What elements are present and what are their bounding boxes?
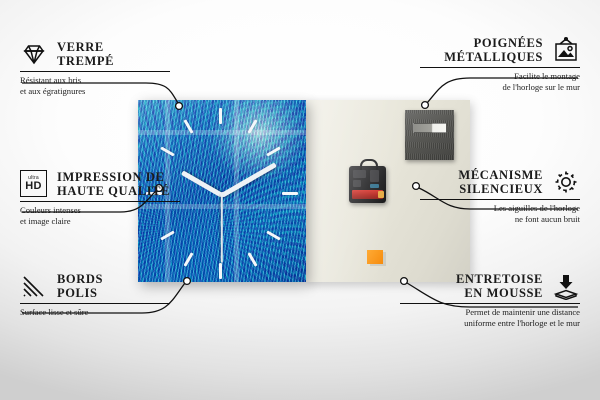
- hour-tick: [219, 263, 222, 279]
- callout-description: Surface lisse et sûre: [20, 307, 170, 318]
- callout-description: Couleurs intenses et image claire: [20, 205, 180, 226]
- callout-poignees-metalliques: POIGNÉES MÉTALLIQUES Facilite le montage…: [420, 36, 580, 92]
- callout-title: BORDS POLIS: [57, 272, 103, 300]
- callout-verre-trempe: VERRE TREMPÉ Résistant aux bris et aux é…: [20, 40, 170, 96]
- callout-header: ENTRETOISE EN MOUSSE: [400, 272, 580, 300]
- callout-title: VERRE TREMPÉ: [57, 40, 114, 68]
- callout-bords-polis: BORDS POLIS Surface lisse et sûre: [20, 272, 170, 318]
- diamond-icon: [20, 40, 48, 68]
- callout-rule: [20, 71, 170, 72]
- pattern-gridline: [138, 130, 306, 135]
- callout-rule: [400, 303, 580, 304]
- hands-center-cap: [220, 192, 225, 197]
- mechanism-detail: [370, 170, 379, 182]
- product-infographic: VERRE TREMPÉ Résistant aux bris et aux é…: [0, 0, 600, 400]
- callout-mecanisme-silencieux: MÉCANISME SILENCIEUX Les aiguilles de l'…: [420, 168, 580, 224]
- callout-rule: [20, 201, 180, 202]
- hour-tick: [219, 108, 222, 124]
- callout-header: BORDS POLIS: [20, 272, 170, 300]
- callout-header: VERRE TREMPÉ: [20, 40, 170, 68]
- foam-spacer: [367, 250, 383, 264]
- arrow-down-on-layer-icon: [552, 272, 580, 300]
- battery: [352, 190, 383, 199]
- battery-terminal: [378, 191, 384, 198]
- gear-icon: [552, 168, 580, 196]
- callout-header: POIGNÉES MÉTALLIQUES: [420, 36, 580, 64]
- callout-description: Résistant aux bris et aux égratignures: [20, 75, 170, 96]
- callout-description: Facilite le montage de l'horloge sur le …: [420, 71, 580, 92]
- callout-title: IMPRESSION DE HAUTE QUALITÉ: [57, 170, 170, 198]
- second-hand: [221, 195, 223, 263]
- callout-title: ENTRETOISE EN MOUSSE: [456, 272, 543, 300]
- callout-description: Permet de maintenir une distance uniform…: [400, 307, 580, 328]
- hanger-slot: [413, 123, 447, 133]
- callout-impression-haute-qualite: ultra HD IMPRESSION DE HAUTE QUALITÉ Cou…: [20, 170, 180, 226]
- callout-entretoise-en-mousse: ENTRETOISE EN MOUSSE Permet de maintenir…: [400, 272, 580, 328]
- callout-title: POIGNÉES MÉTALLIQUES: [444, 36, 543, 64]
- callout-rule: [420, 199, 580, 200]
- hanger-plate: [405, 110, 454, 160]
- picture-frame-hanging-icon: [552, 36, 580, 64]
- mechanism-detail: [353, 170, 366, 178]
- callout-rule: [20, 303, 170, 304]
- callout-rule: [420, 67, 580, 68]
- callout-header: MÉCANISME SILENCIEUX: [420, 168, 580, 196]
- callout-title: MÉCANISME SILENCIEUX: [458, 168, 543, 196]
- mechanism-label: [370, 184, 379, 188]
- hour-tick: [282, 192, 298, 195]
- mechanism-detail: [353, 180, 361, 187]
- ultra-hd-icon: ultra HD: [20, 170, 48, 198]
- callout-description: Les aiguilles de l'horloge ne font aucun…: [420, 203, 580, 224]
- mechanism-hanger-loop: [360, 159, 378, 170]
- callout-header: ultra HD IMPRESSION DE HAUTE QUALITÉ: [20, 170, 180, 198]
- diagonal-lines-icon: [20, 272, 48, 300]
- quartz-mechanism: [349, 166, 386, 203]
